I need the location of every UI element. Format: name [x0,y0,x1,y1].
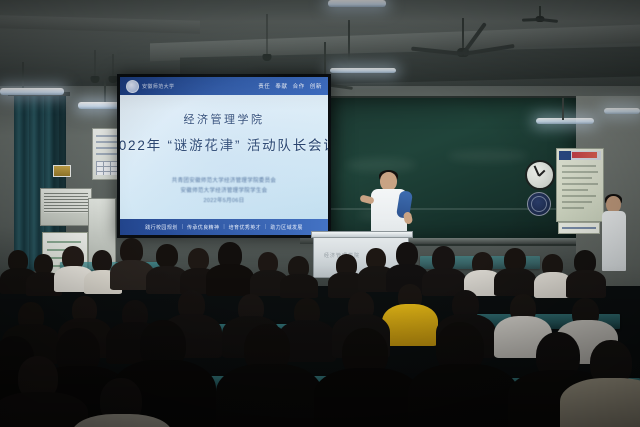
pendant-light [262,14,272,62]
school-badge-icon [527,192,551,216]
poster-line [562,171,598,173]
slide-motto-3: 合作 [293,82,305,90]
clock-minute-hand [534,166,540,177]
slide-motto-2: 奉献 [275,82,287,90]
poster-header [559,151,601,160]
audience-shoulders [314,368,420,427]
audience-shoulders-yellow-shirt [382,304,438,346]
wall-air-conditioner [40,188,92,226]
poster-line [562,195,596,197]
presenter-arm-right [403,211,413,224]
wall-poster [556,148,604,222]
ceiling-fan [408,18,518,68]
pendant-wire [113,54,114,76]
audience-shoulders [560,378,640,427]
projection-screen: 安徽师范大学 责任 奉献 合作 创新 经济管理学院 2022年 “谜游花津” 活… [117,74,331,238]
presentation-slide: 安徽师范大学 责任 奉献 合作 创新 经济管理学院 2022年 “谜游花津” 活… [120,77,328,235]
tube-light [536,118,594,124]
chalk-smudge [346,158,416,172]
pendant-shade [263,54,272,61]
audience-shoulders [494,268,536,296]
slide-brand-text: 安徽师范大学 [142,83,174,90]
slide-subtitle-2: 安徽师范大学经济管理学院学生会 [172,186,276,194]
audience-head [156,244,178,268]
slide-title-line1: 经济管理学院 [184,111,265,127]
poster-line [562,183,598,185]
tube-light [0,88,64,95]
audience-shoulders [280,274,318,298]
poster-line [562,177,592,179]
poster-line [562,189,588,191]
light-stem [562,98,564,120]
slide-motto-list: 责任 奉献 合作 创新 [258,82,322,90]
light-stem [22,62,24,88]
audience-shoulders [206,264,254,296]
pendant-wire [267,14,268,54]
slide-motto-4: 创新 [310,82,322,90]
light-stem [104,80,106,102]
slide-body: 经济管理学院 2022年 “谜游花津” 活动队长会议 共青团安徽师范大学经济管理… [120,95,328,219]
audience-shoulders [216,364,322,427]
wall-sign-icon [53,165,71,177]
audience-seating [0,228,640,427]
audience-shoulders [408,364,518,427]
audience-shoulders [0,392,88,427]
pendant-shade [91,76,100,83]
slide-date: 2022年5月06日 [172,196,276,204]
slide-header-bar: 安徽师范大学 责任 奉献 合作 创新 [120,77,328,95]
ac-vents [44,193,88,213]
wall-clock-icon [525,160,555,190]
slide-brand-group: 安徽师范大学 [126,80,174,93]
fan-blade [540,18,558,23]
ceiling-beam [0,15,200,34]
ceiling-fan [522,6,558,30]
university-emblem-icon [126,80,139,93]
poster-line [562,201,592,203]
pendant-wire [95,50,96,76]
slide-title-line2: 2022年 “谜游花津” 活动队长会议 [120,134,328,154]
slide-subtitle-1: 共青团安徽师范大学经济管理学院委员会 [172,176,276,184]
audience-shoulders [566,270,606,298]
tube-light [604,108,640,114]
lecture-hall-photo: 安徽师范大学 责任 奉献 合作 创新 经济管理学院 2022年 “谜游花津” 活… [0,0,640,427]
poster-title-text [572,152,597,158]
badge-ring [531,196,547,212]
poster-line [562,207,584,209]
fan-blade [522,18,540,22]
slide-motto-1: 责任 [258,82,270,90]
pendant-light [90,50,100,84]
slide-subtitle-group: 共青团安徽师范大学经济管理学院委员会 安徽师范大学经济管理学院学生会 2022年… [172,176,276,204]
chalk-smudge [448,150,528,162]
poster-line [562,165,596,167]
fan-blade [411,47,463,56]
tube-light [328,0,386,7]
fan-pole [462,18,464,50]
